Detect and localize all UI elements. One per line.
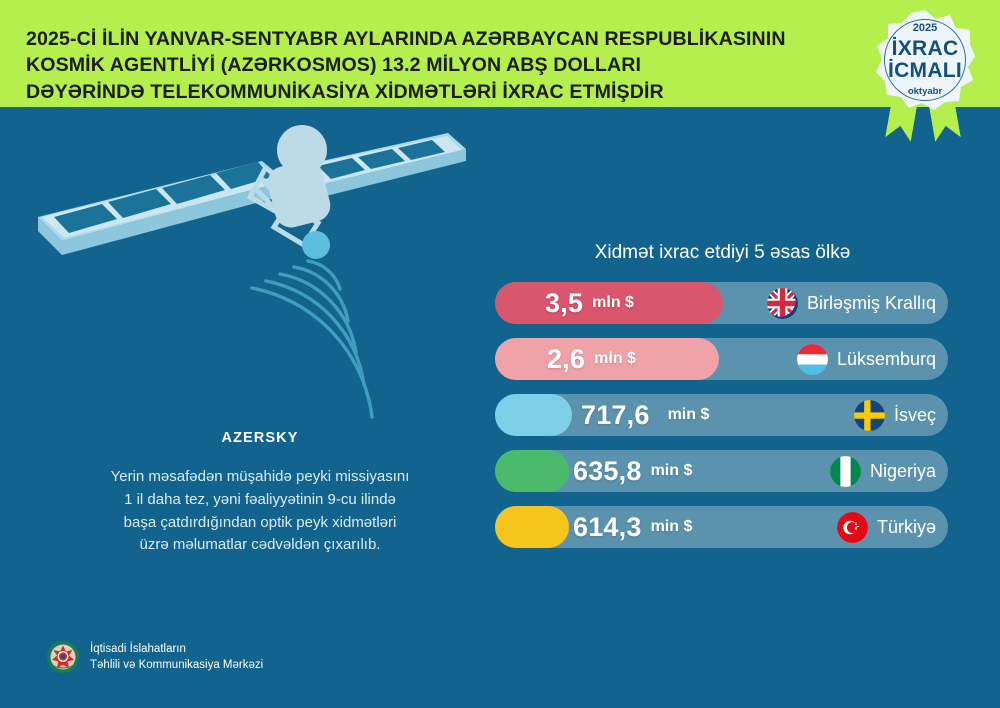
bar-value-sweden: 717,6 min $ bbox=[581, 394, 709, 436]
export-review-badge: 2025 İXRAC İCMALI oktyabr bbox=[866, 8, 984, 136]
luxembourg-flag-icon bbox=[797, 344, 828, 375]
bar-value-unit: min $ bbox=[668, 406, 710, 424]
bar-value-number: 635,8 bbox=[573, 456, 642, 487]
country-bar-chart: 3,5 mln $ Birləşmiş Krallıq bbox=[495, 282, 950, 562]
bar-value-unit: min $ bbox=[651, 518, 693, 536]
page-title-line-2: KOSMİK AGENTLİYİ (AZƏRKOSMOS) 13.2 MİLYO… bbox=[26, 52, 866, 78]
bar-value-turkiye: 614,3 min $ bbox=[573, 506, 692, 548]
footer-line-2: Təhlili və Kommunikasiya Mərkəzi bbox=[90, 657, 263, 673]
bar-country-uk: Birləşmiş Krallıq bbox=[767, 282, 936, 324]
azersky-description: Yerin məsafədən müşahidə peyki missiyası… bbox=[40, 466, 480, 557]
footer-branding: İqtisadi İslahatların Təhlili və Kommuni… bbox=[46, 640, 263, 674]
badge-line-1: İXRAC bbox=[892, 38, 959, 59]
page-title-line-3: DƏYƏRİNDƏ TELEKOMMUNİKASİYA XİDMƏTLƏRİ İ… bbox=[26, 79, 866, 105]
bar-country-turkiye: Türkiyə bbox=[837, 506, 936, 548]
page-title-line-1: 2025-Cİ İLİN YANVAR-SENTYABR AYLARINDA A… bbox=[26, 26, 866, 52]
bar-value-number: 614,3 bbox=[573, 512, 642, 543]
bar-country-luxembourg: Lüksemburq bbox=[797, 338, 936, 380]
bar-fill-turkiye bbox=[495, 506, 569, 548]
badge-month: oktyabr bbox=[908, 87, 942, 97]
antenna-dish-icon bbox=[302, 231, 330, 259]
bar-fill-nigeria bbox=[495, 450, 569, 492]
turkiye-flag-icon bbox=[837, 512, 868, 543]
badge-line-2: İCMALI bbox=[888, 60, 962, 81]
satellite-illustration bbox=[18, 105, 488, 435]
bar-value-unit: mln $ bbox=[594, 350, 636, 368]
badge-seal-shape: 2025 İXRAC İCMALI oktyabr bbox=[875, 10, 975, 110]
azersky-description-line-2: 1 il daha tez, yəni fəaliyyətinin 9-cu i… bbox=[40, 489, 480, 512]
footer-line-1: İqtisadi İslahatların bbox=[90, 641, 263, 657]
uk-flag-icon bbox=[767, 288, 798, 319]
badge-text-group: 2025 İXRAC İCMALI oktyabr bbox=[875, 10, 975, 110]
azersky-description-line-3: başa çatdırdığından optik peyk xidmətlər… bbox=[40, 512, 480, 535]
badge-year: 2025 bbox=[913, 23, 937, 34]
bar-value-number: 2,6 bbox=[547, 344, 585, 375]
bar-country-sweden: İsveç bbox=[854, 394, 936, 436]
bar-row-uk: 3,5 mln $ Birləşmiş Krallıq bbox=[495, 282, 950, 324]
bar-country-name: Nigeriya bbox=[870, 461, 936, 482]
bar-row-turkiye: 614,3 min $ Türkiyə bbox=[495, 506, 950, 548]
bar-row-luxembourg: 2,6 mln $ Lüksemburq bbox=[495, 338, 950, 380]
bar-value-number: 3,5 bbox=[545, 288, 583, 319]
bar-country-nigeria: Nigeriya bbox=[830, 450, 936, 492]
bar-fill-sweden bbox=[495, 394, 572, 436]
azersky-title: AZERSKY bbox=[40, 430, 480, 446]
azerbaijan-state-emblem-icon bbox=[46, 640, 80, 674]
bar-country-name: İsveç bbox=[894, 405, 936, 426]
bar-value-unit: mln $ bbox=[592, 294, 634, 312]
bar-country-name: Birləşmiş Krallıq bbox=[807, 293, 936, 314]
azersky-description-line-1: Yerin məsafədən müşahidə peyki missiyası… bbox=[40, 466, 480, 489]
bar-row-nigeria: 635,8 min $ Nigeriya bbox=[495, 450, 950, 492]
bar-country-name: Lüksemburq bbox=[837, 349, 936, 370]
bar-value-unit: min $ bbox=[651, 462, 693, 480]
page-title: 2025-Cİ İLİN YANVAR-SENTYABR AYLARINDA A… bbox=[26, 26, 866, 105]
bar-value-luxembourg: 2,6 mln $ bbox=[547, 338, 636, 380]
bar-row-sweden: 717,6 min $ İsveç bbox=[495, 394, 950, 436]
bar-value-uk: 3,5 mln $ bbox=[545, 282, 634, 324]
nigeria-flag-icon bbox=[830, 456, 861, 487]
chart-title: Xidmət ixrac etdiyi 5 əsas ölkə bbox=[495, 242, 950, 264]
footer-text: İqtisadi İslahatların Təhlili və Kommuni… bbox=[90, 641, 263, 674]
bar-value-nigeria: 635,8 min $ bbox=[573, 450, 692, 492]
bar-country-name: Türkiyə bbox=[877, 517, 936, 538]
azersky-description-line-4: üzrə məlumatlar cədvəldən çıxarılıb. bbox=[40, 534, 480, 557]
bar-value-number: 717,6 bbox=[581, 400, 650, 431]
sweden-flag-icon bbox=[854, 400, 885, 431]
